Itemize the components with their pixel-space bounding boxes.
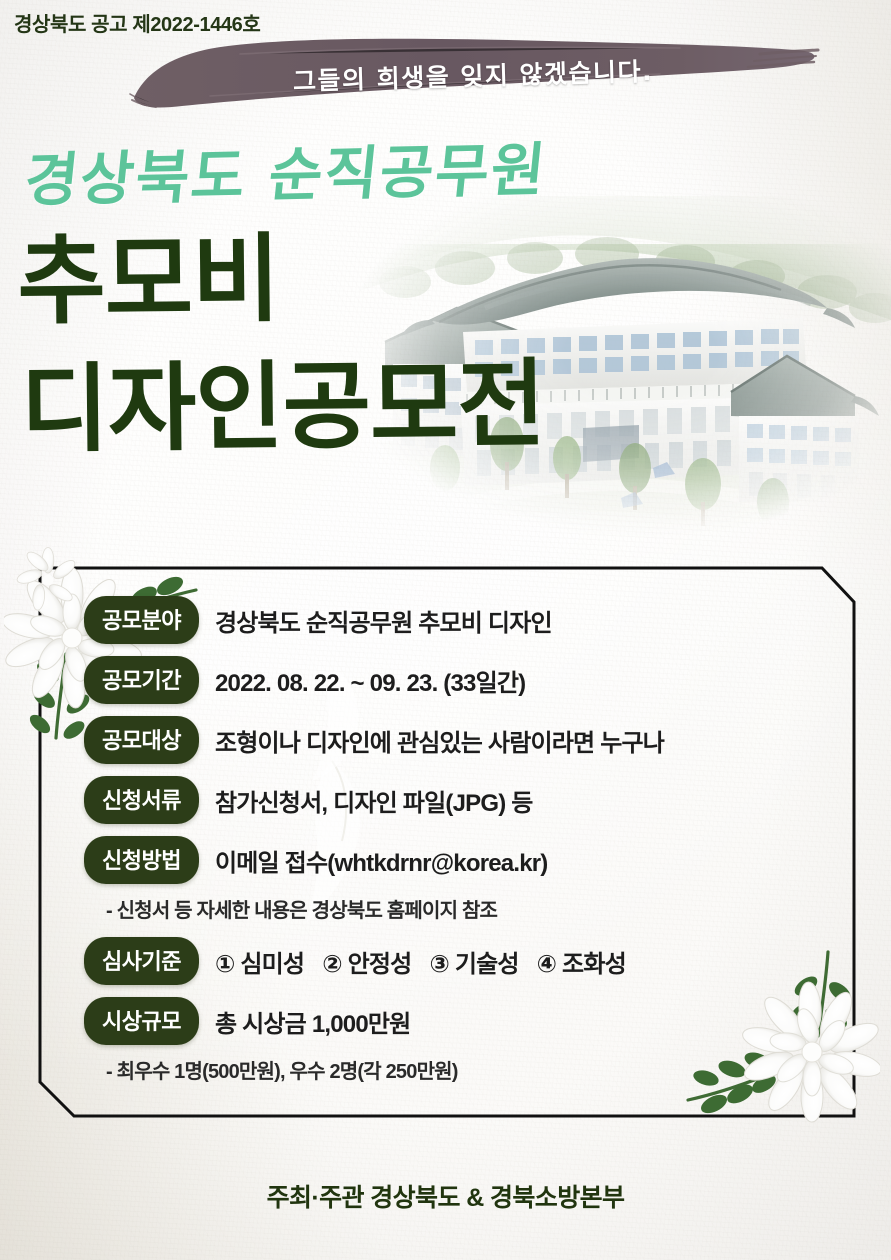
- notice-number: 경상북도 공고 제2022-1446호: [14, 8, 260, 37]
- info-row-documents: 신청서류 참가신청서, 디자인 파일(JPG) 등: [84, 776, 830, 824]
- note-prize: - 최우수 1명(500만원), 우수 2명(각 250만원): [106, 1055, 830, 1084]
- title-subtitle: 경상북도 순직공무원: [21, 123, 551, 218]
- info-row-criteria: 심사기준 ① 심미성② 안정성③ 기술성④ 조화성: [84, 937, 830, 985]
- poster-root: 경상북도 공고 제2022-1446호: [0, 0, 891, 1260]
- value-criteria: ① 심미성② 안정성③ 기술성④ 조화성: [215, 944, 644, 979]
- value-period: 2022. 08. 22. ~ 09. 23. (33일간): [215, 663, 525, 698]
- value-apply-method[interactable]: 이메일 접수(whtkdrnr@korea.kr): [215, 843, 548, 878]
- info-rows: 공모분야 경상북도 순직공무원 추모비 디자인 공모기간 2022. 08. 2…: [84, 596, 830, 1098]
- label-prize: 시상규모: [84, 997, 199, 1045]
- criteria-item-2: ② 안정성: [322, 951, 411, 978]
- title-line-2: 디자인공모전: [20, 357, 545, 457]
- value-prize: 총 시상금 1,000만원: [215, 1004, 410, 1039]
- label-eligibility: 공모대상: [84, 716, 199, 764]
- label-period: 공모기간: [84, 656, 199, 704]
- info-row-field: 공모분야 경상북도 순직공무원 추모비 디자인: [84, 596, 830, 644]
- value-eligibility: 조형이나 디자인에 관심있는 사람이라면 누구나: [215, 723, 664, 758]
- label-criteria: 심사기준: [84, 937, 199, 985]
- info-row-eligibility: 공모대상 조형이나 디자인에 관심있는 사람이라면 누구나: [84, 716, 830, 764]
- value-documents: 참가신청서, 디자인 파일(JPG) 등: [215, 783, 533, 818]
- label-field: 공모분야: [84, 596, 199, 644]
- criteria-item-1: ① 심미성: [215, 951, 304, 978]
- note-apply: - 신청서 등 자세한 내용은 경상북도 홈페이지 참조: [106, 894, 830, 923]
- info-row-period: 공모기간 2022. 08. 22. ~ 09. 23. (33일간): [84, 656, 830, 704]
- info-box: 공모분야 경상북도 순직공무원 추모비 디자인 공모기간 2022. 08. 2…: [38, 566, 856, 1118]
- title-main: 추모비 디자인공모전: [17, 229, 545, 457]
- criteria-item-3: ③ 기술성: [429, 951, 518, 978]
- info-row-prize: 시상규모 총 시상금 1,000만원: [84, 997, 830, 1045]
- title-line-1: 추모비: [17, 223, 280, 338]
- tagline-brush-banner: 그들의 희생을 잊지 않겠습니다.: [120, 36, 820, 114]
- label-apply-method: 신청방법: [84, 836, 199, 884]
- value-field: 경상북도 순직공무원 추모비 디자인: [215, 603, 552, 638]
- footer-organizers: 주최·주관 경상북도 & 경북소방본부: [0, 1178, 891, 1214]
- label-documents: 신청서류: [84, 776, 199, 824]
- info-row-apply-method: 신청방법 이메일 접수(whtkdrnr@korea.kr): [84, 836, 830, 884]
- criteria-item-4: ④ 조화성: [537, 951, 626, 978]
